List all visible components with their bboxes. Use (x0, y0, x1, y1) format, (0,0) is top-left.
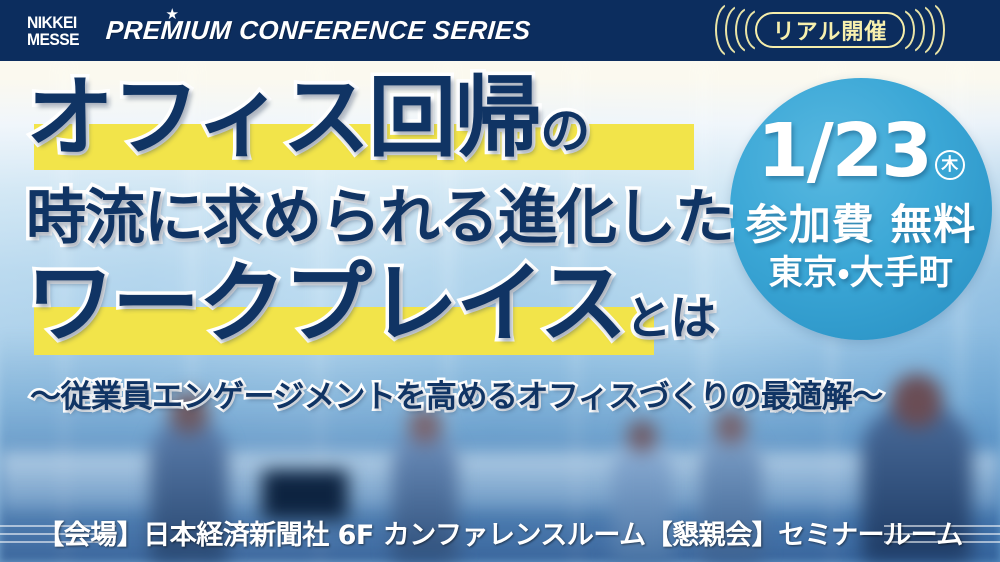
headline-line-2: 時流に求められる進化した (26, 185, 746, 251)
series-title: PREMIUM CONFERENCE SERIES (104, 15, 531, 46)
headline-line2-text: 時流に求められる進化した (26, 183, 734, 253)
event-location: 東京・大手町 (769, 254, 954, 292)
venue-bar: 【会場】日本経済新聞社 6F カンファレンスルーム【懇親会】セミナールーム (0, 510, 1000, 562)
headline-block: オフィス回帰の 時流に求められる進化した ワークプレイスとは (26, 72, 746, 365)
venue-text: 【会場】日本経済新聞社 6F カンファレンスルーム【懇親会】セミナールーム (37, 521, 963, 551)
event-date: 1/23 (757, 114, 931, 188)
headline-line3-suffix: とは (625, 291, 715, 345)
event-date-wrap: 1/23 木 (757, 114, 965, 188)
headline-line1-suffix: の (540, 102, 590, 160)
headline-line-3: ワークプレイスとは (26, 257, 746, 365)
conference-banner: NIKKEI MESSE ★ PREMIUM CONFERENCE SERIES… (0, 0, 1000, 562)
headline-line-1: オフィス回帰の (26, 72, 746, 177)
real-event-badge: リアル開催 (705, 9, 955, 51)
badge-pill: リアル開催 (755, 12, 905, 48)
nikkei-messe-logo: NIKKEI MESSE (27, 14, 79, 48)
day-of-week-badge: 木 (935, 150, 965, 180)
logo-line-nikkei: NIKKEI (27, 14, 79, 31)
headline-line1-main: オフィス回帰 (26, 66, 540, 169)
badge-label: リアル開催 (773, 14, 888, 46)
series-title-wrap: ★ PREMIUM CONFERENCE SERIES (106, 15, 531, 46)
date-badge: 1/23 木 参加費 無料 東京・大手町 (730, 78, 992, 340)
logo-line-messe: MESSE (27, 31, 79, 48)
headline-line3-main: ワークプレイス (26, 252, 625, 355)
headline-subtitle: 〜従業員エンゲージメントを高めるオフィスづくりの最適解〜 (30, 378, 883, 416)
participation-fee: 参加費 無料 (746, 202, 977, 248)
